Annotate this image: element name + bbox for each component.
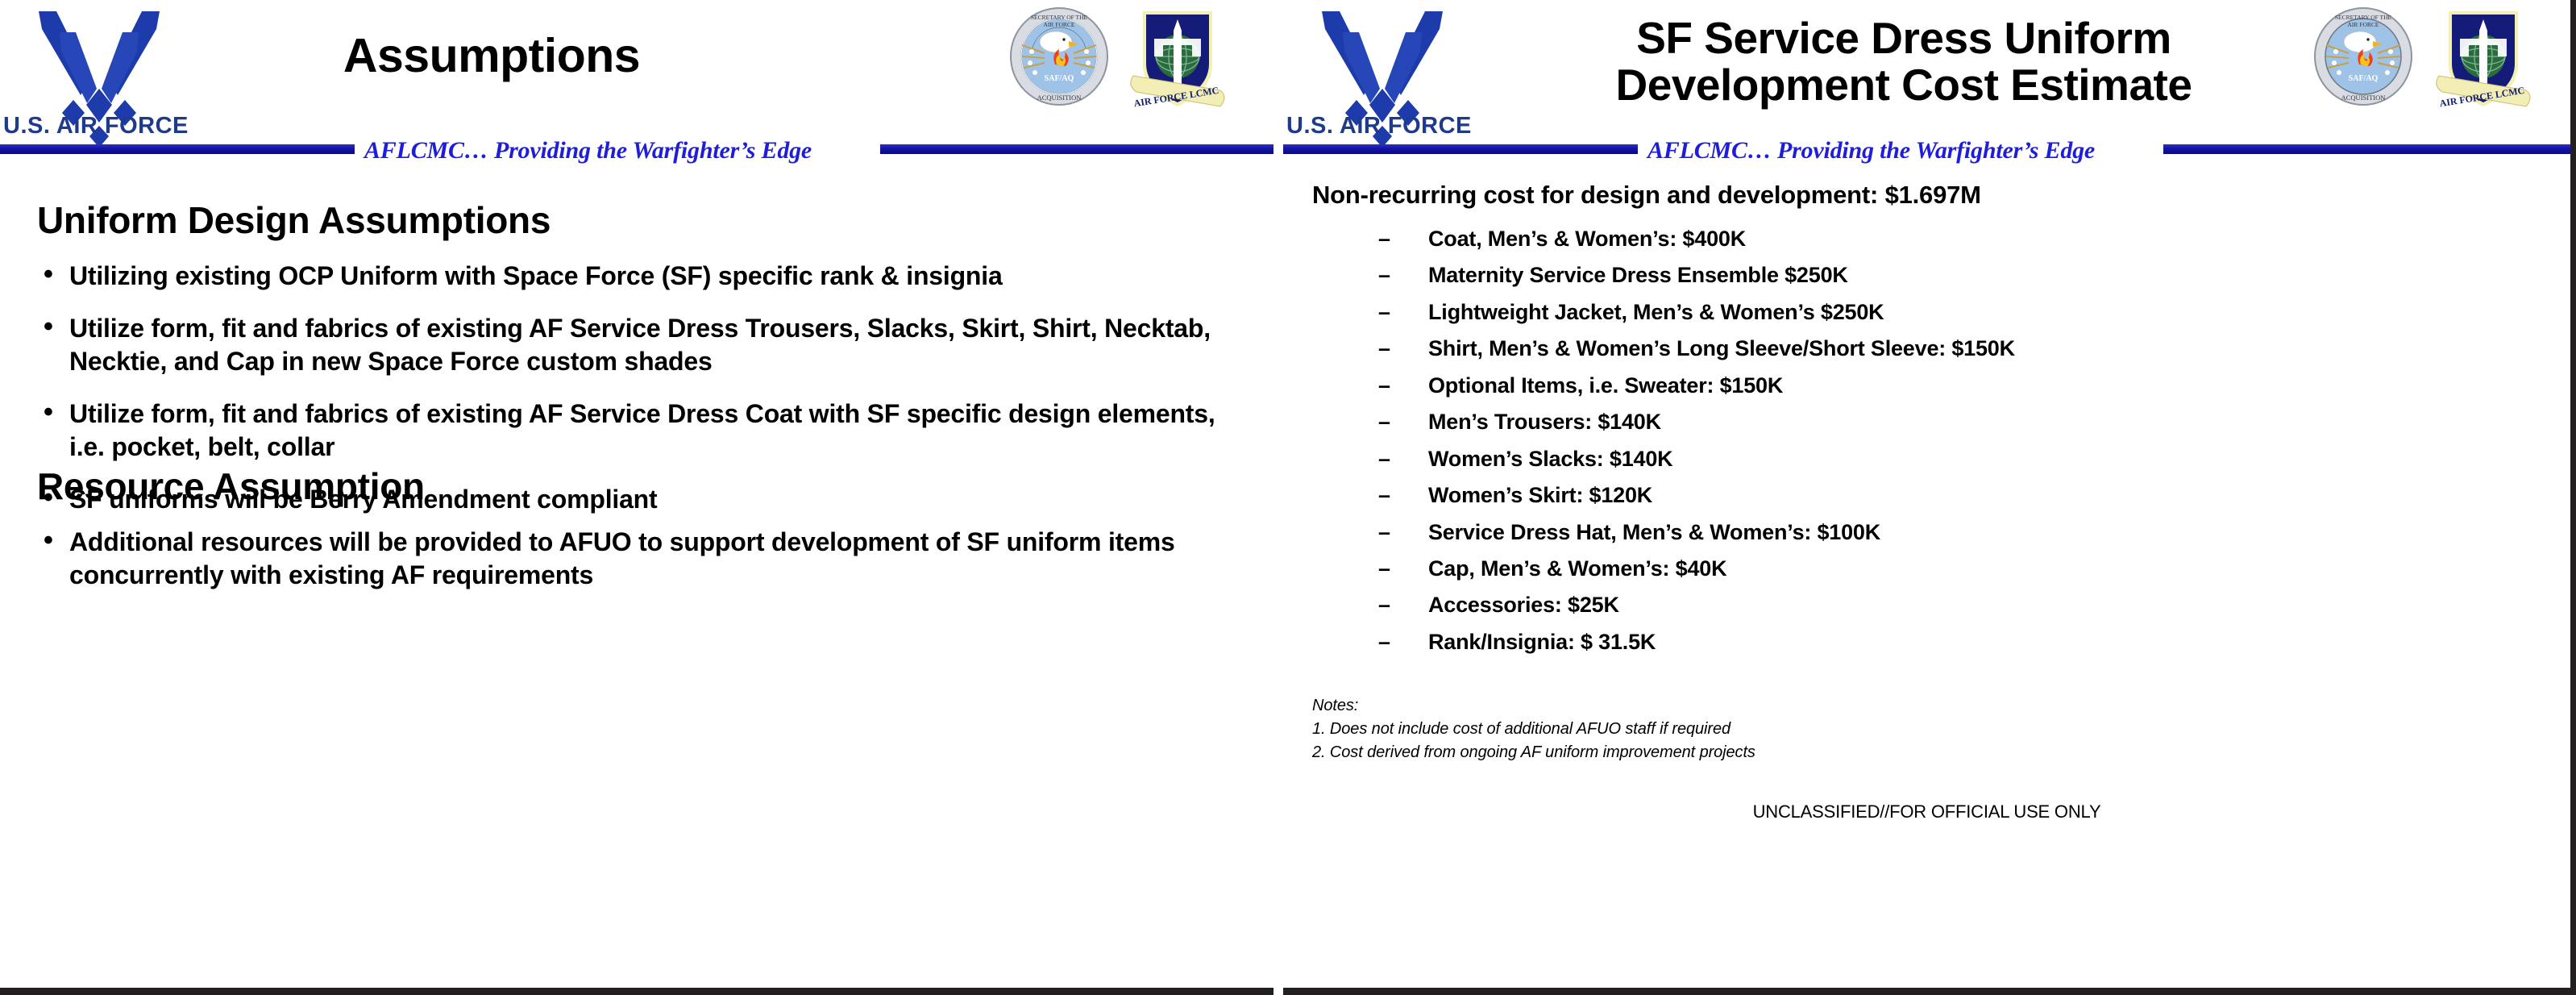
saf-aq-seal-icon: SECRETARY OF THE AIR FORCE ACQUISITION S… (2313, 6, 2413, 106)
page-title: SF Service Dress Uniform Development Cos… (1525, 15, 2283, 109)
usaf-wordmark: U.S. AIR FORCE (1286, 113, 1472, 139)
slide-separator (1273, 0, 1283, 995)
list-item: Lightweight Jacket, Men’s & Women’s $250… (1378, 299, 2015, 326)
classification-banner: UNCLASSIFIED//FOR OFFICIAL USE ONLY (1283, 801, 2570, 822)
slide-deck: U.S. AIR FORCE Assumptions SECRETARY OF … (0, 0, 2576, 995)
svg-text:SAF/AQ: SAF/AQ (2349, 74, 2379, 83)
svg-text:AIR FORCE: AIR FORCE (1044, 21, 1075, 28)
list-item: Rank/Insignia: $ 31.5K (1378, 629, 2015, 656)
list-item: Service Dress Hat, Men’s & Women’s: $100… (1378, 519, 2015, 546)
slide-header-right: U.S. AIR FORCE SF Service Dress Uniform … (1283, 0, 2570, 158)
svg-text:AIR FORCE: AIR FORCE (2348, 21, 2379, 28)
cost-breakdown-list: Coat, Men’s & Women’s: $400K Maternity S… (1378, 226, 2015, 665)
list-item: Utilize form, fit and fabrics of existin… (37, 312, 1246, 378)
aflcmc-tagline: AFLCMC… Providing the Warfighter’s Edge (364, 137, 812, 164)
note-item: 1. Does not include cost of additional A… (1312, 718, 1755, 741)
section-heading-uniform-design: Uniform Design Assumptions (37, 198, 551, 242)
list-item: Shirt, Men’s & Women’s Long Sleeve/Short… (1378, 335, 2015, 362)
list-item: Women’s Skirt: $120K (1378, 482, 2015, 509)
svg-text:ACQUISITION: ACQUISITION (1037, 94, 1082, 102)
usaf-wordmark: U.S. AIR FORCE (3, 113, 189, 139)
header-accent-rule: AFLCMC… Providing the Warfighter’s Edge (1283, 137, 2570, 158)
list-item: Accessories: $25K (1378, 592, 2015, 618)
cost-summary-line: Non-recurring cost for design and develo… (1312, 181, 1981, 210)
section-heading-resource-assumption: Resource Assumption (37, 464, 425, 508)
slide-header-left: U.S. AIR FORCE Assumptions SECRETARY OF … (0, 0, 1273, 158)
list-item: Cap, Men’s & Women’s: $40K (1378, 556, 2015, 582)
note-item: 2. Cost derived from ongoing AF uniform … (1312, 741, 1755, 764)
notes-block: Notes: 1. Does not include cost of addit… (1312, 694, 1755, 764)
list-item: Men’s Trousers: $140K (1378, 409, 2015, 435)
list-item: Coat, Men’s & Women’s: $400K (1378, 226, 2015, 252)
slide-cost-estimate: U.S. AIR FORCE SF Service Dress Uniform … (1283, 0, 2576, 995)
list-item: Optional Items, i.e. Sweater: $150K (1378, 373, 2015, 399)
list-item: Maternity Service Dress Ensemble $250K (1378, 262, 2015, 289)
page-title: Assumptions (242, 31, 742, 81)
svg-text:SECRETARY OF THE: SECRETARY OF THE (2335, 14, 2392, 21)
svg-text:SECRETARY OF THE: SECRETARY OF THE (1031, 14, 1088, 21)
resource-assumption-bullet-list: Additional resources will be provided to… (37, 526, 1246, 611)
header-accent-rule: AFLCMC… Providing the Warfighter’s Edge (0, 137, 1273, 158)
saf-aq-seal-icon: SECRETARY OF THE AIR FORCE ACQUISITION S… (1009, 6, 1109, 106)
af-lcmc-seal-icon: AIR FORCE LCMC (2431, 6, 2536, 113)
list-item: Utilize form, fit and fabrics of existin… (37, 398, 1246, 464)
svg-text:ACQUISITION: ACQUISITION (2341, 94, 2386, 102)
svg-text:SAF/AQ: SAF/AQ (1045, 74, 1074, 83)
af-lcmc-seal-icon: AIR FORCE LCMC (1125, 6, 1230, 113)
list-item: Utilizing existing OCP Uniform with Spac… (37, 260, 1246, 293)
aflcmc-tagline: AFLCMC… Providing the Warfighter’s Edge (1647, 137, 2095, 164)
notes-label: Notes: (1312, 694, 1755, 718)
slide-assumptions: U.S. AIR FORCE Assumptions SECRETARY OF … (0, 0, 1273, 995)
list-item: Additional resources will be provided to… (37, 526, 1246, 592)
list-item: Women’s Slacks: $140K (1378, 446, 2015, 473)
